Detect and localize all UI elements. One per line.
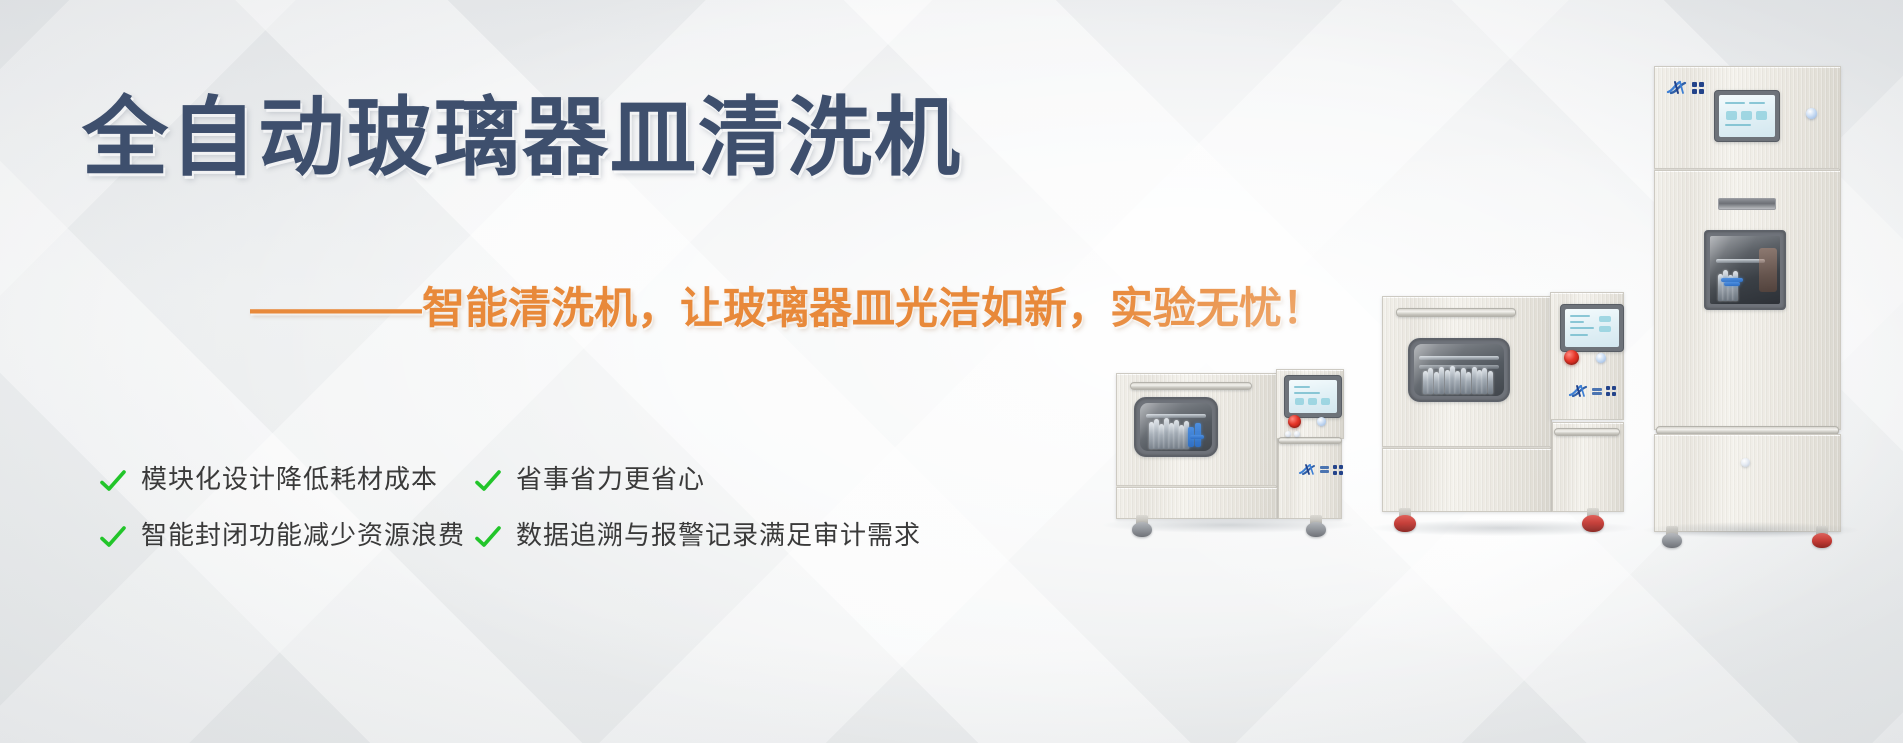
- brand-wordmark: [1320, 466, 1329, 473]
- product-image-freestanding-washer: [1378, 280, 1628, 528]
- copy-block: 全自动玻璃器皿清洗机 ————智能清洗机，让玻璃器皿光洁如新，实验无忧！ 模块化…: [0, 0, 1120, 743]
- indicator-light: [1285, 431, 1291, 437]
- page-title: 全自动玻璃器皿清洗机: [82, 95, 962, 181]
- product-banner: 全自动玻璃器皿清洗机 ————智能清洗机，让玻璃器皿光洁如新，实验无忧！ 模块化…: [0, 0, 1903, 743]
- feature-item: 模块化设计降低耗材成本: [98, 465, 473, 495]
- brand-mark-icon: [1568, 384, 1589, 398]
- power-button[interactable]: [1806, 108, 1817, 119]
- check-icon: [473, 522, 503, 552]
- check-icon: [98, 466, 128, 496]
- door-handle-recess: [1718, 198, 1776, 210]
- emergency-stop-button[interactable]: [1288, 415, 1301, 428]
- door-latch[interactable]: [1741, 458, 1750, 467]
- hmi-touchscreen[interactable]: [1560, 304, 1624, 352]
- brand-logo: [1666, 80, 1704, 95]
- brand-grid-icon: [1606, 386, 1616, 396]
- brand-grid-icon: [1692, 82, 1704, 94]
- emergency-stop-button[interactable]: [1564, 350, 1579, 365]
- power-button[interactable]: [1317, 417, 1326, 426]
- feature-item: 省事省力更省心: [473, 465, 1033, 495]
- feature-item: 智能封闭功能减少资源浪费: [98, 521, 473, 551]
- indicator-light: [1294, 431, 1300, 437]
- check-icon: [473, 466, 503, 496]
- brand-mark-icon: [1298, 463, 1317, 476]
- feature-row: 模块化设计降低耗材成本 省事省力更省心: [98, 465, 1098, 495]
- feature-item: 数据追溯与报警记录满足审计需求: [473, 521, 1033, 551]
- hmi-touchscreen[interactable]: [1714, 90, 1780, 142]
- brand-logo: [1568, 384, 1616, 398]
- check-icon: [98, 522, 128, 552]
- brand-mark-icon: [1666, 80, 1688, 95]
- brand-grid-icon: [1333, 465, 1343, 475]
- brand-logo: [1298, 463, 1343, 476]
- feature-label: 模块化设计降低耗材成本: [141, 466, 438, 495]
- hmi-touchscreen[interactable]: [1284, 375, 1342, 418]
- feature-label: 省事省力更省心: [516, 466, 705, 495]
- product-image-tall-column-washer: [1648, 58, 1853, 528]
- feature-row: 智能封闭功能减少资源浪费 数据追溯与报警记录满足审计需求: [98, 521, 1098, 551]
- feature-label: 智能封闭功能减少资源浪费: [141, 522, 465, 551]
- brand-wordmark: [1592, 388, 1602, 395]
- product-photo-group: [1100, 0, 1903, 743]
- feature-label: 数据追溯与报警记录满足审计需求: [516, 522, 921, 551]
- power-button[interactable]: [1596, 353, 1606, 363]
- feature-list: 模块化设计降低耗材成本 省事省力更省心: [98, 465, 1098, 577]
- product-image-undercounter-washer: [1108, 355, 1348, 525]
